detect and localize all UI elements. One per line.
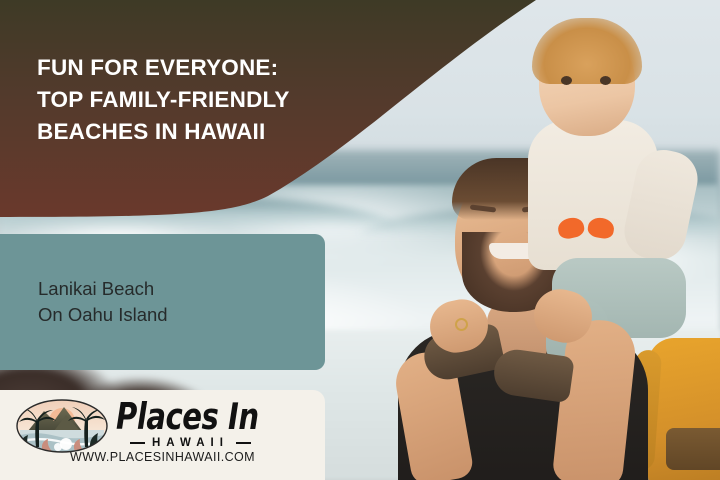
brand-name-secondary-row: HAWAII [130, 437, 251, 449]
wedding-ring [455, 318, 468, 331]
hawaii-island-badge-icon [14, 397, 110, 453]
logo-card[interactable]: Places In HAWAII WWW.PLACESINHAWAII.COM [0, 390, 325, 480]
page-title: FUN FOR EVERYONE: TOP FAMILY-FRIENDLY BE… [37, 52, 367, 148]
child-eye-left [561, 76, 572, 85]
hawaii-beaches-banner: FUN FOR EVERYONE: TOP FAMILY-FRIENDLY BE… [0, 0, 720, 480]
logo-lockup: Places In HAWAII [14, 396, 314, 454]
website-url[interactable]: WWW.PLACESINHAWAII.COM [0, 450, 325, 464]
brand-name-secondary: HAWAII [152, 437, 229, 449]
child-eye-right [600, 76, 611, 85]
child-hair [532, 18, 642, 84]
brand-wordmark: Places In HAWAII [116, 397, 314, 453]
dash-left-icon [130, 442, 145, 445]
brand-name-primary: Places In [116, 396, 259, 439]
sunglasses-lens-right [586, 216, 615, 240]
sunglasses-lens-left [556, 216, 586, 241]
sunglasses-icon [558, 218, 616, 238]
caption-line-beach: Lanikai Beach [38, 276, 325, 302]
caption-line-island: On Oahu Island [38, 302, 325, 328]
dash-right-icon [236, 442, 251, 445]
backpack-pocket [666, 428, 720, 470]
location-caption-panel: Lanikai Beach On Oahu Island [0, 234, 325, 370]
